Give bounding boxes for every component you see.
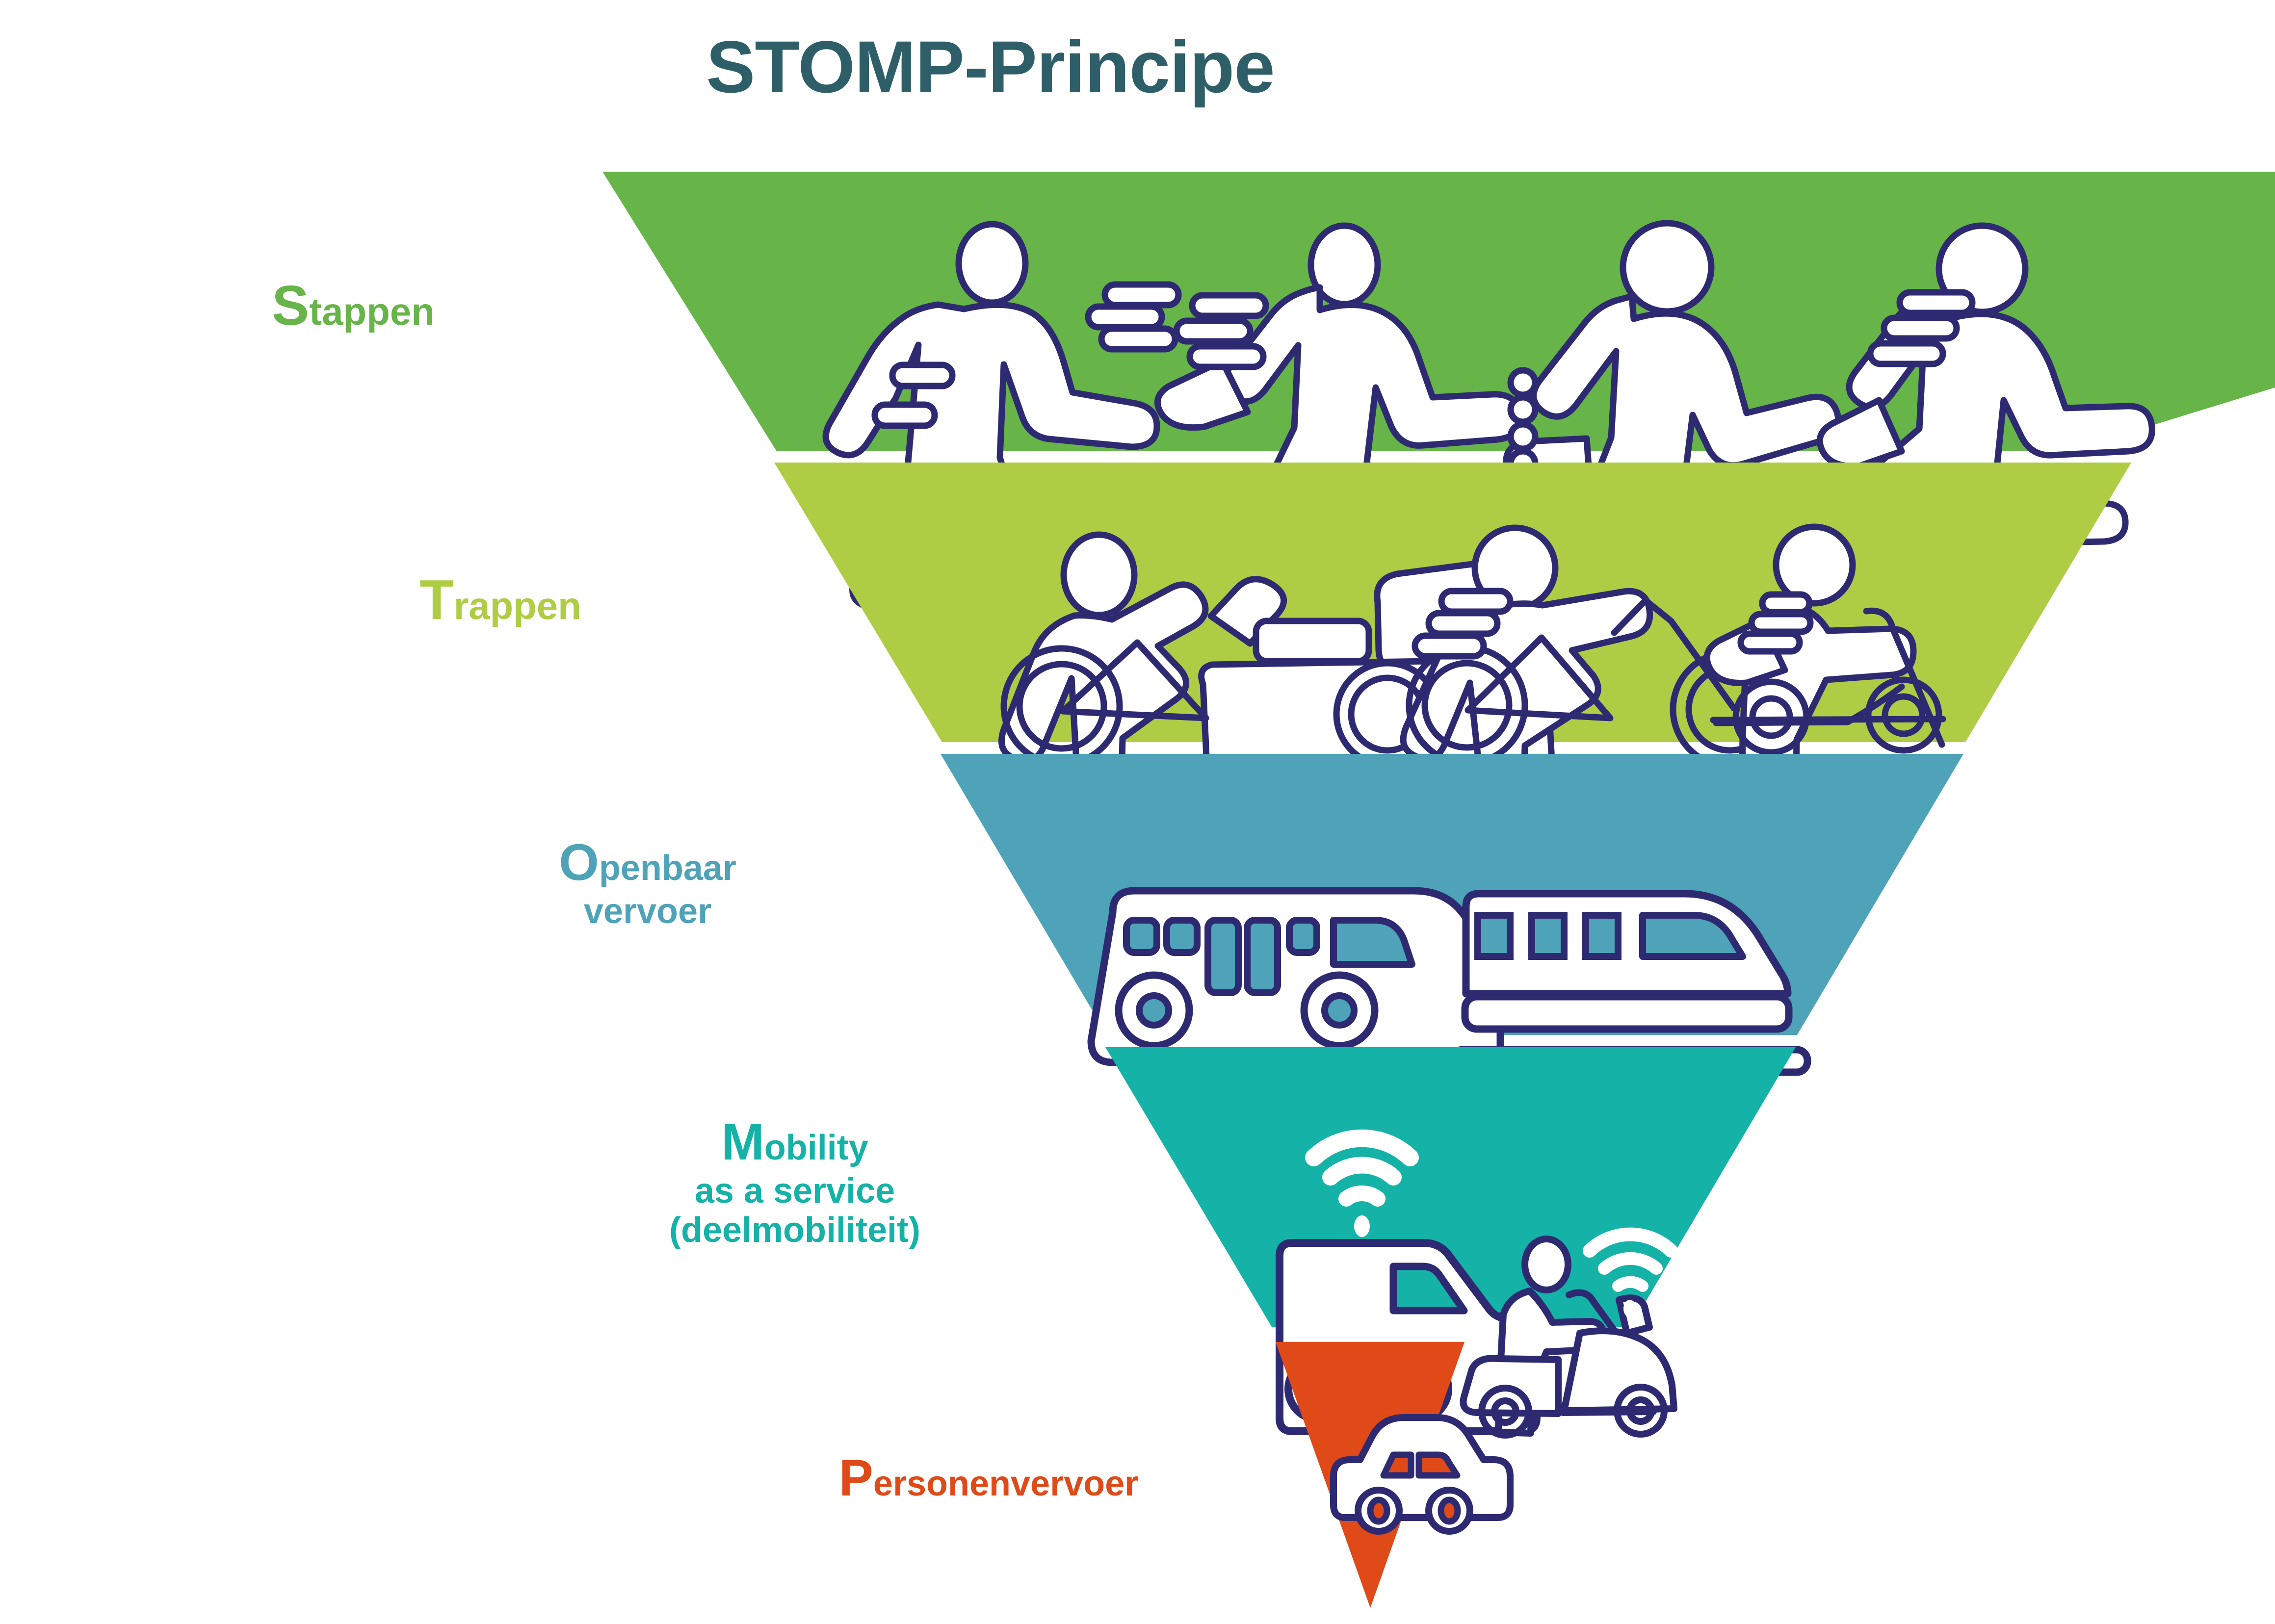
band-rest-mobility: obility [764,1128,868,1167]
band-label-maas-line2: as a service [569,1171,1020,1211]
band-initial-s: S [272,275,309,337]
band-initial-o: O [559,834,599,891]
band-label-trappen[interactable]: Trappen [275,569,726,632]
band-rest-trappen: rappen [454,584,581,627]
stomp-funnel-diagram [0,0,2275,1624]
band-openbaar-vervoer[interactable] [941,754,1963,1072]
band-label-openbaar-vervoer[interactable]: Openbaar vervoer [422,834,873,931]
motion-lines-running-icon [1177,295,1266,367]
band-label-stappen[interactable]: Stappen [128,275,579,337]
band-initial-p: P [839,1449,873,1507]
infographic-canvas: STOMP-Principe [0,0,2275,1624]
wifi-dot-small-icon [1623,1300,1636,1317]
band-initial-t: T [419,569,454,631]
band-label-maas-line3: (deelmobiliteit) [569,1211,1020,1250]
band-label-openbaar-line2: vervoer [422,892,873,931]
band-rest-openbaar: penbaar [599,849,736,888]
bus-icon [1091,891,1500,1062]
band-label-mobility-as-a-service[interactable]: Mobility as a service (deelmobiliteit) [569,1113,1020,1250]
band-initial-m: M [721,1113,764,1171]
band-label-personenvervoer[interactable]: Personenvervoer [736,1449,1241,1507]
band-rest-personenvervoer: ersonenvervoer [873,1464,1138,1503]
motion-lines-walking-icon [1088,284,1178,349]
wifi-dot-icon [1354,1215,1370,1237]
band-rest-stappen: tappen [309,290,435,333]
